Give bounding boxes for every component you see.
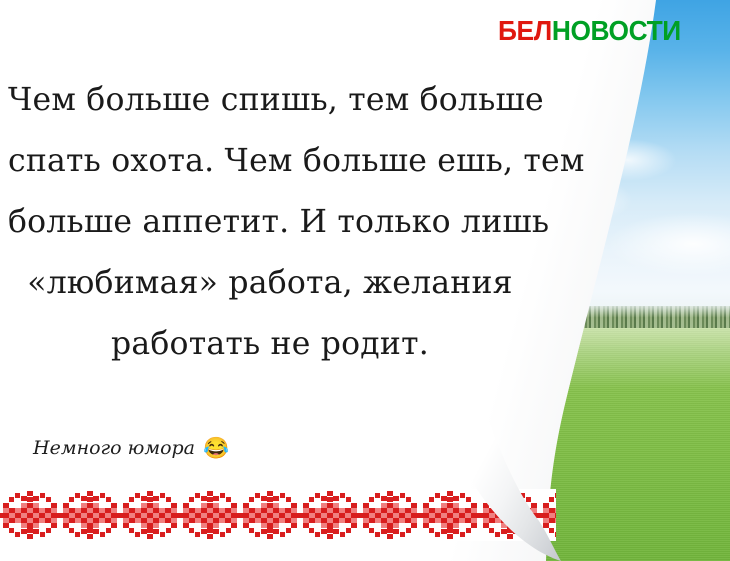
signature-caption: Немного юмора 😂	[33, 438, 229, 459]
logo-text-novosti: НОВОСТИ	[552, 15, 681, 46]
quote-line-3: больше аппетит. И только лишь	[8, 192, 532, 253]
logo-text-bel: БЕЛ	[498, 15, 552, 46]
signature-text: Немного юмора	[33, 439, 195, 458]
quote-line-1: Чем больше спишь, тем больше	[8, 70, 532, 131]
quote-line-2: спать охота. Чем больше ешь, тем	[8, 131, 532, 192]
quote-line-5: работать не родит.	[8, 314, 532, 375]
belarusian-ornament-border	[0, 489, 556, 541]
quote-line-4: «любимая» работа, желания	[8, 253, 532, 314]
face-with-tears-of-joy-icon: 😂	[203, 438, 229, 459]
quote-card: БЕЛНОВОСТИ Чем больше спишь, тем больше …	[0, 0, 730, 561]
belnovosti-logo[interactable]: БЕЛНОВОСТИ	[498, 17, 681, 45]
quote-text: Чем больше спишь, тем больше спать охота…	[8, 70, 532, 375]
